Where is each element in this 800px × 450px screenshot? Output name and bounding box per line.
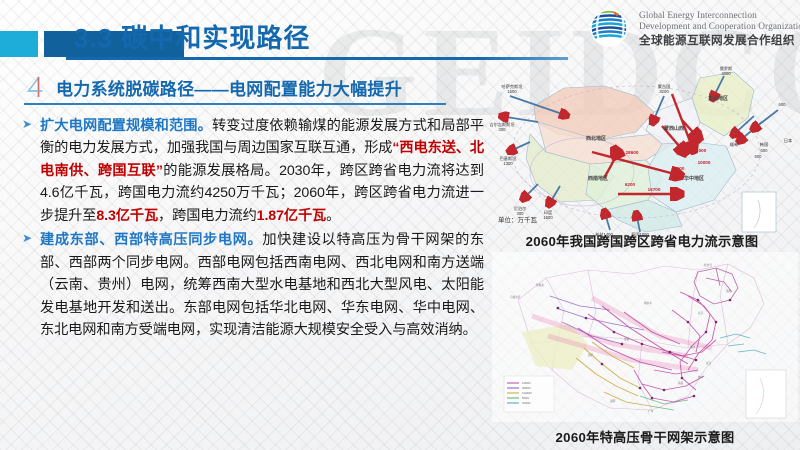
- svg-text:1000kV: 1000kV: [522, 381, 531, 385]
- body-text-column: ➤ 扩大电网配置规模和范围。转变过度依赖输煤的能源发展方式和局部平衡的电力发展方…: [22, 115, 484, 343]
- p1-seg-5: 1.87亿千瓦: [257, 208, 326, 224]
- geidco-logo: Global Energy Interconnection Developmen…: [586, 6, 800, 52]
- subheading: 电力系统脱碳路径——电网配置能力大幅提升: [24, 74, 402, 100]
- svg-text:拉萨: 拉萨: [588, 353, 594, 357]
- svg-text:武汉: 武汉: [706, 361, 712, 365]
- svg-text:300: 300: [499, 127, 507, 132]
- p1-seg-6: 。: [326, 208, 340, 224]
- svg-text:1600: 1600: [507, 89, 517, 94]
- p1-seg-4: ，跨国电力流约: [158, 208, 257, 224]
- svg-text:杭州: 杭州: [698, 375, 704, 379]
- paragraph-1-text: 扩大电网配置规模和范围。转变过度依赖输煤的能源发展方式和局部平衡的电力发展方式，…: [40, 115, 484, 227]
- paragraph-2-text: 建成东部、西部特高压同步电网。加快建设以特高压为骨干网架的东部、西部两个同步电网…: [40, 229, 484, 341]
- svg-text:缅甸: 缅甸: [730, 141, 738, 148]
- svg-text:西北地区: 西北地区: [586, 135, 606, 142]
- svg-text:1600: 1600: [543, 215, 553, 220]
- svg-text:±800kV: ±800kV: [522, 386, 531, 390]
- logo-english-line2: Development and Cooperation Organization: [639, 22, 800, 32]
- svg-text:600: 600: [761, 148, 769, 153]
- svg-text:沈阳: 沈阳: [726, 289, 732, 293]
- logo-english-line1: Global Energy Interconnection: [639, 11, 800, 21]
- svg-text:乌鲁木齐: 乌鲁木齐: [510, 295, 521, 299]
- svg-text:蒙西山西: 蒙西山西: [664, 125, 684, 132]
- svg-text:28600: 28600: [626, 150, 639, 155]
- svg-text:3200: 3200: [659, 89, 669, 94]
- svg-text:南昌: 南昌: [678, 381, 684, 385]
- svg-text:成都: 成都: [624, 337, 630, 341]
- bullet-arrow-icon: ➤: [22, 118, 32, 130]
- map-power-flow: 哈萨克斯坦1600 吉尔吉斯斯坦300 巴基斯坦1300 尼泊尔300 印度16…: [486, 60, 798, 236]
- svg-text:北京: 北京: [698, 311, 704, 315]
- svg-text:±1100kV: ±1100kV: [522, 391, 532, 395]
- svg-text:东北地区: 东北地区: [708, 95, 728, 102]
- map-bottom-caption: 2060年特高压骨干网架示意图: [492, 427, 798, 446]
- svg-text:广州: 广州: [648, 409, 654, 413]
- map-top-caption: 2060年我国跨国跨区跨省电力流示意图: [486, 231, 798, 250]
- svg-text:600: 600: [779, 102, 787, 107]
- paragraph-1-lead: 扩大电网配置规模和范围。: [40, 118, 212, 134]
- paragraph-1: ➤ 扩大电网配置规模和范围。转变过度依赖输煤的能源发展方式和局部平衡的电力发展方…: [22, 115, 484, 227]
- svg-text:西南地区: 西南地区: [588, 175, 608, 182]
- numeral-4-icon: [24, 74, 48, 100]
- subheading-title: 电力系统脱碳路径——电网配置能力大幅提升: [56, 75, 402, 100]
- map-unit-label: 单位：万千瓦: [498, 214, 537, 224]
- map-uhv-grid: 1000kV±800kV ±1100kV500kV ±500kV 乌鲁木齐阿勒泰…: [492, 252, 798, 422]
- svg-text:格尔木: 格尔木: [644, 301, 652, 305]
- header-divider: [66, 57, 568, 60]
- svg-text:1300: 1300: [503, 161, 513, 166]
- page-title: 3.3 碳中和实现路径: [74, 18, 310, 55]
- svg-text:600: 600: [755, 154, 763, 159]
- globe-icon: [586, 6, 632, 52]
- logo-chinese: 全球能源互联网发展合作组织: [639, 34, 800, 47]
- svg-text:22600: 22600: [672, 166, 685, 171]
- svg-text:华中地区: 华中地区: [684, 175, 704, 182]
- paragraph-2-lead: 建成东部、西部特高压同步电网。: [40, 232, 262, 248]
- subheading-divider: [24, 103, 446, 105]
- bullet-arrow-icon: ➤: [22, 232, 32, 244]
- svg-text:4000: 4000: [721, 71, 731, 76]
- svg-text:500kV: 500kV: [522, 396, 530, 400]
- svg-text:阿勒泰: 阿勒泰: [536, 283, 544, 287]
- svg-text:哈尔滨: 哈尔滨: [704, 263, 712, 267]
- svg-text:昆明: 昆明: [610, 399, 616, 403]
- svg-text:11000: 11000: [694, 148, 707, 153]
- paragraph-2: ➤ 建成东部、西部特高压同步电网。加快建设以特高压为骨干网架的东部、西部两个同步…: [22, 229, 484, 341]
- svg-text:15700: 15700: [648, 187, 661, 192]
- svg-text:±500kV: ±500kV: [522, 401, 531, 405]
- svg-text:郑州: 郑州: [690, 345, 696, 349]
- svg-text:10000: 10000: [698, 160, 711, 165]
- p1-seg-3: 8.3亿千瓦: [96, 208, 158, 224]
- svg-text:日本: 日本: [784, 137, 793, 144]
- svg-text:韩国: 韩国: [760, 141, 768, 148]
- header-chip-cyan: [0, 31, 38, 57]
- svg-text:6200: 6200: [625, 182, 636, 187]
